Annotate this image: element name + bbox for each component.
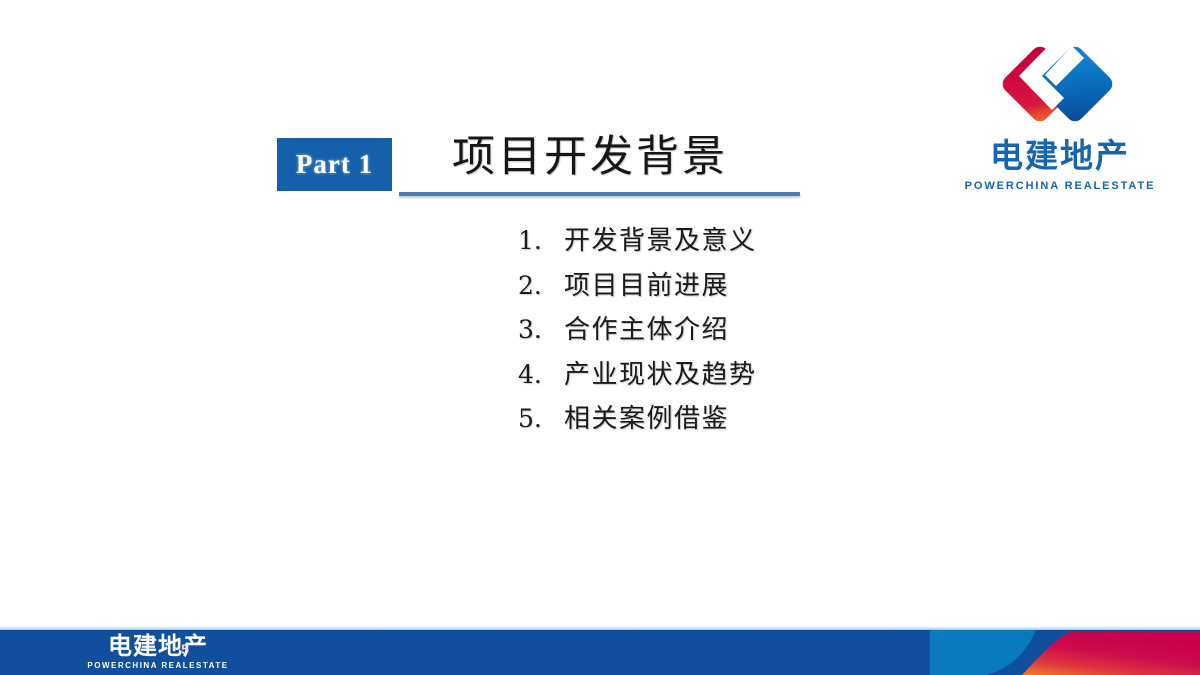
part-badge: Part 1 — [277, 138, 392, 191]
page-number: 5 — [170, 641, 200, 657]
footer-logo-english-name: POWERCHINA REALESTATE — [83, 661, 233, 670]
logo-english-name: POWERCHINA REALESTATE — [960, 180, 1160, 192]
agenda-list: 1. 开发背景及意义 2. 项目目前进展 3. 合作主体介绍 4. 产业现状及趋… — [518, 220, 918, 443]
list-item[interactable]: 3. 合作主体介绍 — [518, 309, 918, 354]
logo-chinese-name: 电建地产 — [960, 138, 1160, 174]
list-item-label: 开发背景及意义 — [564, 220, 757, 257]
list-item-label: 相关案例借鉴 — [564, 398, 729, 435]
list-item-number: 4. — [518, 360, 564, 389]
list-item[interactable]: 5. 相关案例借鉴 — [518, 398, 918, 443]
list-item-label: 合作主体介绍 — [564, 309, 729, 346]
title-underline-rule — [399, 192, 800, 196]
footer-logo: 电建地产 POWERCHINA REALESTATE — [83, 633, 233, 673]
list-item[interactable]: 4. 产业现状及趋势 — [518, 354, 918, 399]
list-item-number: 3. — [518, 315, 564, 344]
part-badge-label: Part 1 — [296, 149, 373, 180]
list-item-number: 1. — [518, 226, 564, 255]
list-item[interactable]: 2. 项目目前进展 — [518, 265, 918, 310]
powerchina-diamond-mark — [998, 32, 1116, 136]
footer-swoosh-decoration — [930, 630, 1200, 675]
list-item-number: 2. — [518, 271, 564, 300]
corporate-logo: 电建地产 POWERCHINA REALESTATE — [960, 32, 1160, 204]
list-item-label: 项目目前进展 — [564, 265, 729, 302]
list-item[interactable]: 1. 开发背景及意义 — [518, 220, 918, 265]
list-item-number: 5. — [518, 404, 564, 433]
footer-bar: 电建地产 POWERCHINA REALESTATE 5 — [0, 630, 1200, 675]
slide-canvas: 电建地产 POWERCHINA REALESTATE Part 1 项目开发背景… — [0, 0, 1200, 675]
footer-logo-chinese-name: 电建地产 — [83, 633, 233, 661]
list-item-label: 产业现状及趋势 — [564, 354, 757, 391]
page-title: 项目开发背景 — [452, 129, 728, 185]
